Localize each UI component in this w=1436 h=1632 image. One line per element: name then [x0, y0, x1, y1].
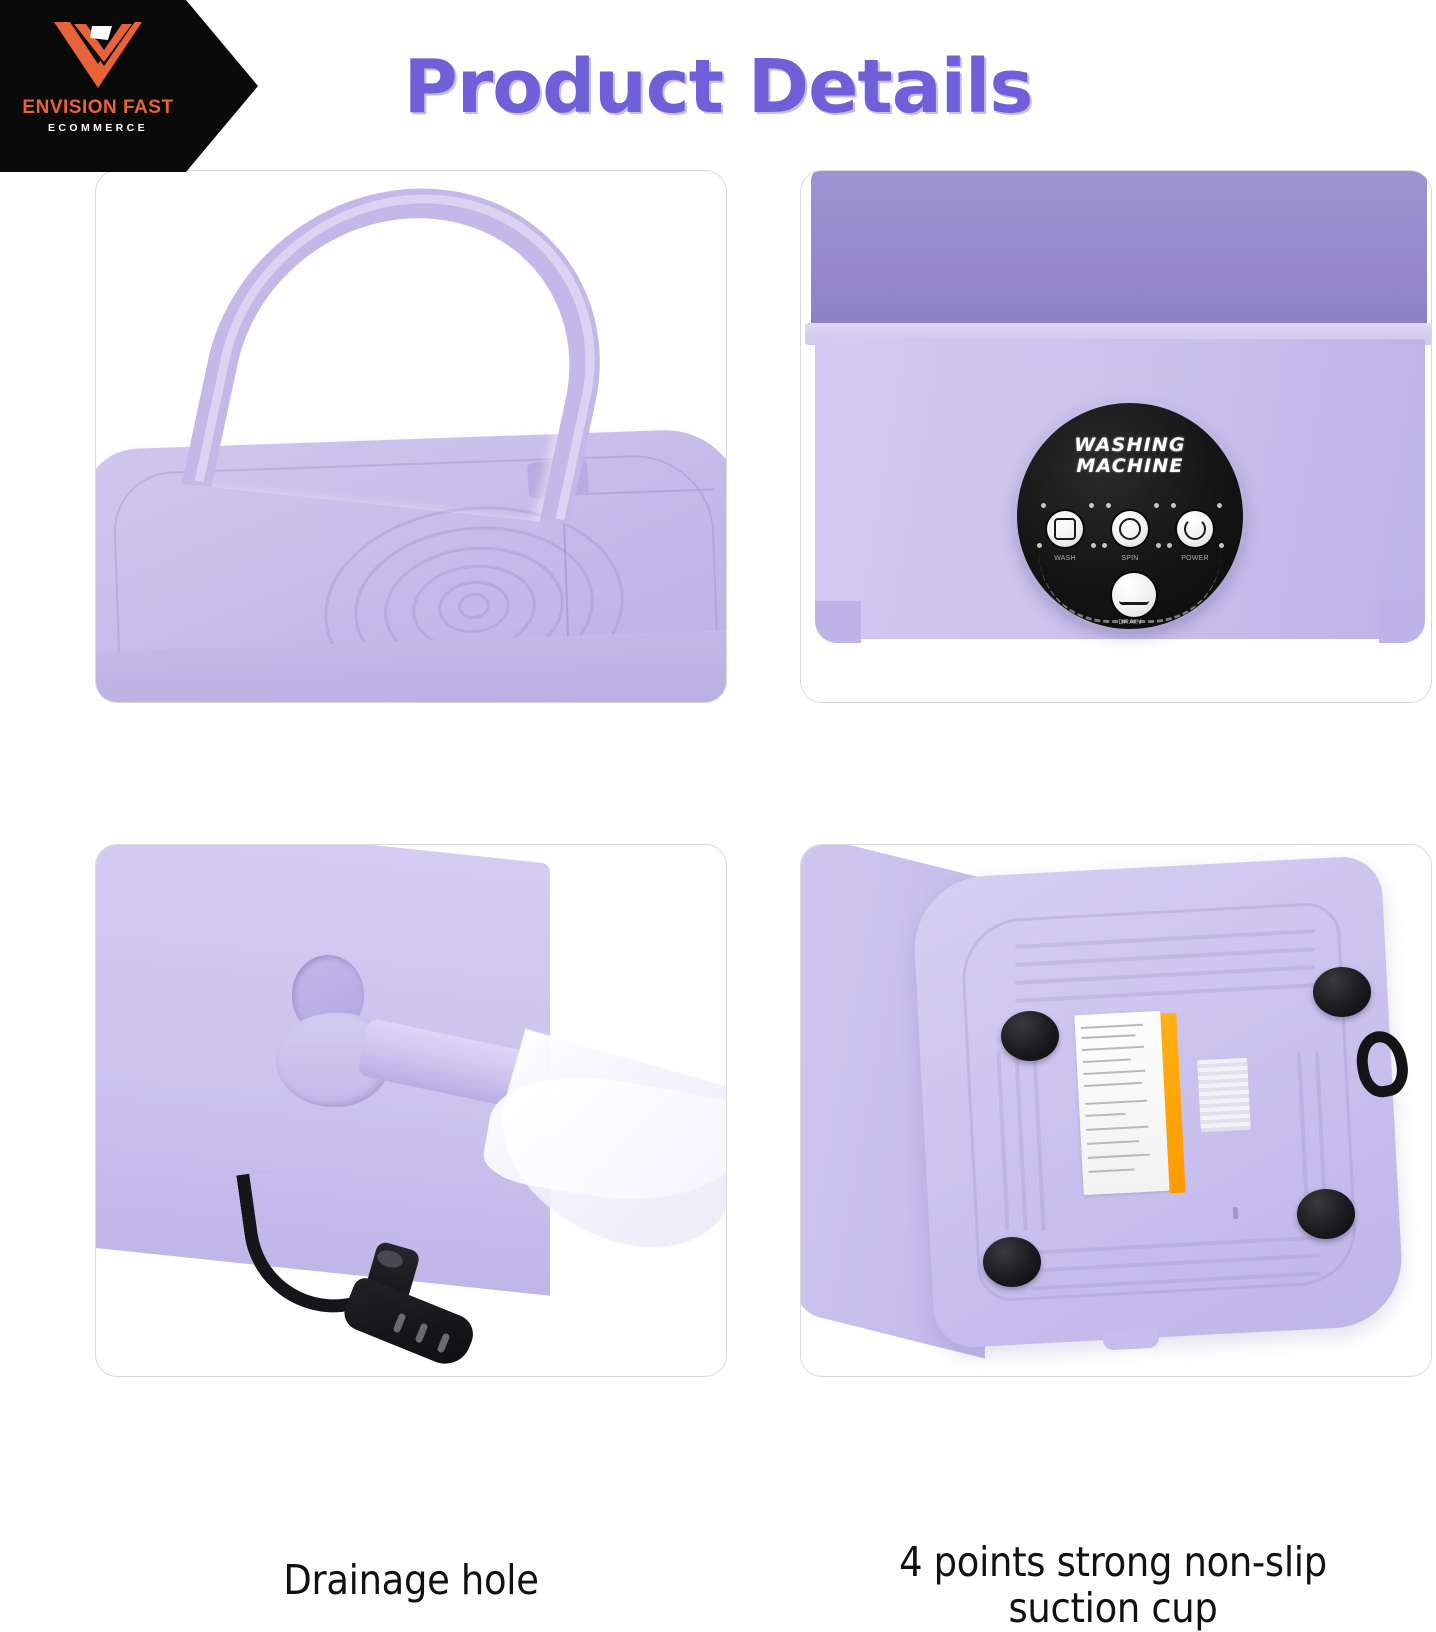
button-tick	[1041, 503, 1046, 508]
button-tick	[1156, 543, 1161, 548]
button-tick	[1217, 503, 1222, 508]
control-panel-brand-line2: MACHINE	[1076, 455, 1183, 477]
machine-foot-left	[815, 601, 861, 643]
qr-code-sticker	[1197, 1058, 1251, 1133]
spin-icon	[1119, 518, 1141, 540]
button-tick	[1171, 503, 1176, 508]
envision-chevron-logo-icon	[52, 16, 144, 92]
caption-suction-cup: 4 points strong non-slip suction cup	[790, 1540, 1436, 1632]
button-tick	[1106, 503, 1111, 508]
brand-name: ENVISION FAST	[22, 97, 173, 119]
caption-drainage-hole: Drainage hole	[95, 1558, 727, 1604]
suction-cup	[983, 1237, 1041, 1287]
panel-folding-handle	[95, 170, 727, 703]
spin-mode-button[interactable]	[1112, 511, 1148, 547]
button-tick	[1167, 543, 1172, 548]
machine-top-lid	[811, 170, 1427, 327]
brand-badge: ENVISION FAST ECOMMERCE	[0, 0, 258, 172]
power-button[interactable]	[1177, 511, 1213, 547]
suction-cup	[1313, 967, 1371, 1017]
panel-drainage-hole	[95, 844, 727, 1377]
button-tick	[1219, 543, 1224, 548]
button-tick	[1037, 543, 1042, 548]
button-tick	[1091, 543, 1096, 548]
drain-label: DRAIN	[1084, 619, 1176, 628]
brand-subtitle: ECOMMERCE	[48, 122, 148, 134]
wash-icon	[1054, 518, 1076, 540]
suction-cup	[1297, 1189, 1355, 1239]
power-icon	[1184, 518, 1206, 540]
suction-cup	[1001, 1011, 1059, 1061]
base-notch	[1103, 1328, 1160, 1351]
wash-mode-button[interactable]	[1047, 511, 1083, 547]
panel-waterproof-control-buttons: WASHING MACHINE WASH SPIN POWER	[800, 170, 1432, 703]
base-vent-slot	[1233, 1207, 1239, 1219]
button-tick	[1102, 543, 1107, 548]
caption-suction-cup-line1: 4 points strong non-slip	[899, 1538, 1327, 1586]
control-panel-brand-line1: WASHING	[1074, 434, 1186, 456]
handle-highlight	[195, 176, 630, 520]
control-panel[interactable]: WASHING MACHINE WASH SPIN POWER	[1017, 403, 1243, 629]
product-label	[1074, 1011, 1169, 1195]
machine-foot-right	[1379, 601, 1425, 643]
button-tick	[1089, 503, 1094, 508]
button-tick	[1154, 503, 1159, 508]
control-panel-brand: WASHING MACHINE	[1017, 435, 1243, 478]
caption-suction-cup-line2: suction cup	[1008, 1584, 1217, 1632]
panel-suction-cup	[800, 844, 1432, 1377]
